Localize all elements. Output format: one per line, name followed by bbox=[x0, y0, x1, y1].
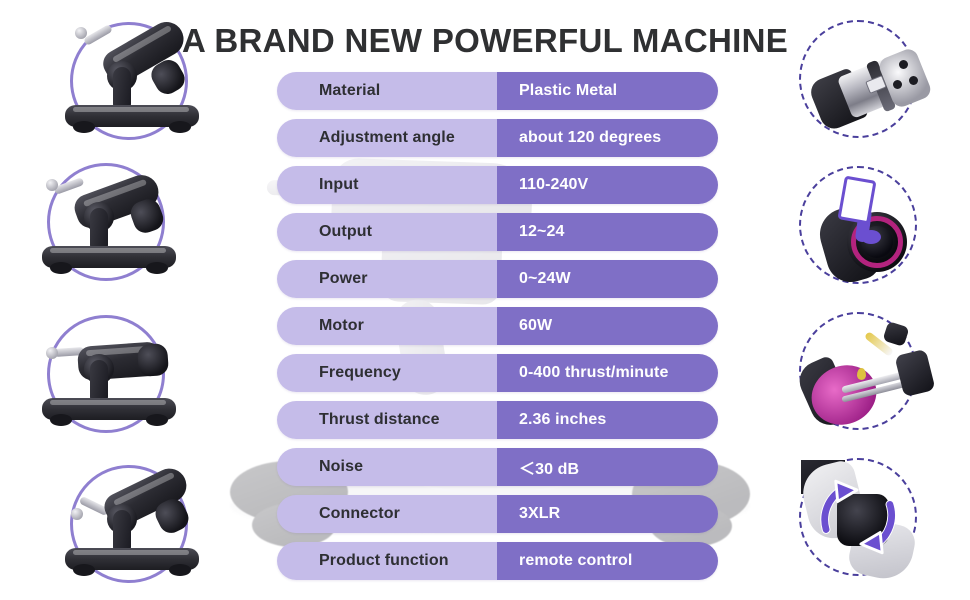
detail-remote-knob bbox=[799, 166, 917, 284]
table-row: Adjustment angle about 120 degrees bbox=[277, 119, 718, 157]
table-row: Motor 60W bbox=[277, 307, 718, 345]
spec-value: 12~24 bbox=[497, 213, 718, 251]
spec-label: Frequency bbox=[277, 354, 497, 392]
spec-value: 60W bbox=[497, 307, 718, 345]
product-spec-infographic: A BRAND NEW POWERFUL MACHINE Material Pl… bbox=[0, 0, 970, 600]
spec-label: Noise bbox=[277, 448, 497, 486]
product-angle-tilted bbox=[70, 465, 188, 583]
spec-label: Output bbox=[277, 213, 497, 251]
table-row: Noise ＜30 dB bbox=[277, 448, 718, 486]
spec-label: Input bbox=[277, 166, 497, 204]
table-row: Frequency 0-400 thrust/minute bbox=[277, 354, 718, 392]
spec-label: Motor bbox=[277, 307, 497, 345]
spec-value: ＜30 dB bbox=[497, 448, 718, 486]
table-row: Product function remote control bbox=[277, 542, 718, 580]
spec-label: Adjustment angle bbox=[277, 119, 497, 157]
spec-label: Material bbox=[277, 72, 497, 110]
table-row: Output 12~24 bbox=[277, 213, 718, 251]
remote-knob-icon bbox=[801, 168, 915, 282]
spec-value: about 120 degrees bbox=[497, 119, 718, 157]
table-row: Power 0~24W bbox=[277, 260, 718, 298]
machine-photo-icon bbox=[34, 302, 184, 452]
spec-label: Connector bbox=[277, 495, 497, 533]
spec-table: Material Plastic Metal Adjustment angle … bbox=[277, 72, 718, 589]
detail-lubricate-shaft bbox=[799, 312, 917, 430]
table-row: Input 110-240V bbox=[277, 166, 718, 204]
spec-value: Plastic Metal bbox=[497, 72, 718, 110]
spec-value: 0~24W bbox=[497, 260, 718, 298]
spec-value: 0-400 thrust/minute bbox=[497, 354, 718, 392]
spec-value: remote control bbox=[497, 542, 718, 580]
detail-rotation-knob bbox=[799, 458, 917, 576]
spec-label: Product function bbox=[277, 542, 497, 580]
table-row: Thrust distance 2.36 inches bbox=[277, 401, 718, 439]
product-angle-high bbox=[70, 22, 188, 140]
product-angle-low bbox=[47, 315, 165, 433]
rotation-arrows-icon bbox=[801, 460, 915, 574]
table-row: Connector 3XLR bbox=[277, 495, 718, 533]
product-angle-mid-high bbox=[47, 163, 165, 281]
spec-label: Thrust distance bbox=[277, 401, 497, 439]
detail-xlr-connector bbox=[799, 20, 917, 138]
spec-label: Power bbox=[277, 260, 497, 298]
spec-value: 2.36 inches bbox=[497, 401, 718, 439]
spec-value: 3XLR bbox=[497, 495, 718, 533]
machine-photo-icon bbox=[57, 452, 207, 600]
oil-dropper-icon bbox=[801, 314, 915, 428]
table-row: Material Plastic Metal bbox=[277, 72, 718, 110]
xlr-connector-icon bbox=[801, 22, 915, 136]
spec-value: 110-240V bbox=[497, 166, 718, 204]
machine-photo-icon bbox=[34, 150, 184, 300]
